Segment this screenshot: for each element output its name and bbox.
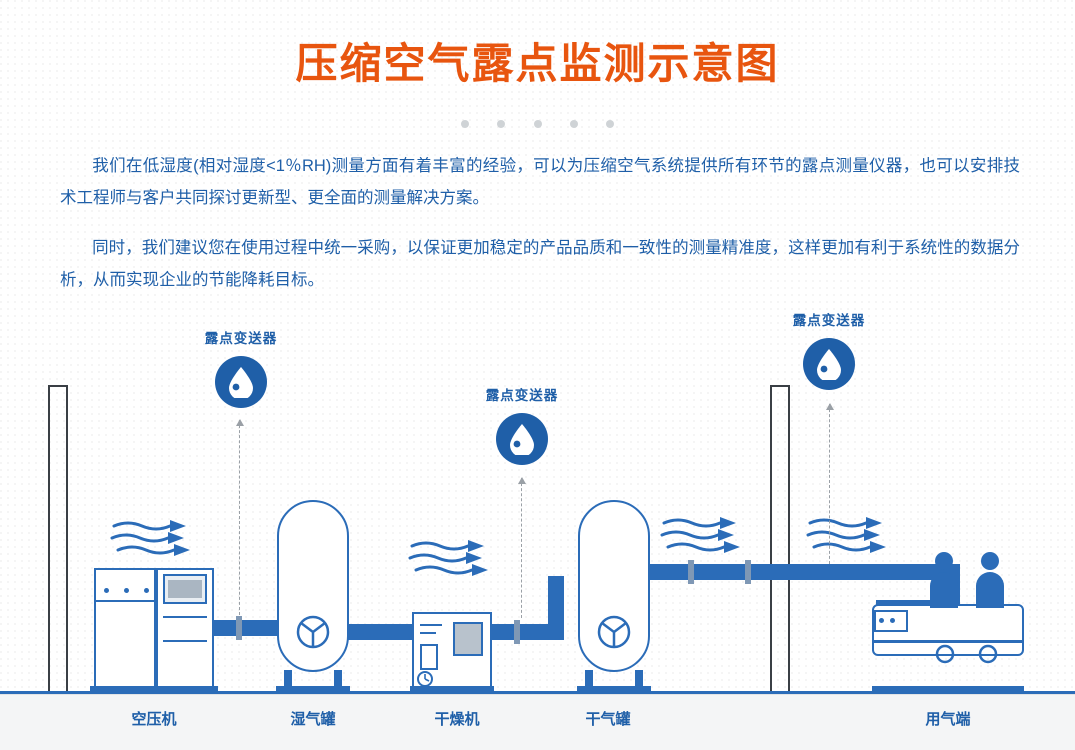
station-caption-compressor: 空压机 [94, 708, 214, 729]
ground-line [0, 691, 1075, 694]
flow-arrows-compressor [110, 518, 196, 562]
pipe-flange [688, 560, 694, 584]
measure-arrow-2 [521, 478, 522, 618]
pipe-dryer-to-dry-tank-riser [548, 576, 564, 632]
station-caption-use-end: 用气端 [888, 708, 1008, 729]
flow-arrows-use-end-in [806, 515, 892, 559]
decorative-dots [0, 115, 1075, 133]
paragraph-text: 同时，我们建议您在使用过程中统一采购，以保证更加稳定的产品品质和一致性的测量精准… [60, 239, 1020, 289]
measure-arrow-3 [829, 404, 830, 564]
dot [461, 120, 469, 128]
transmitter-label-3: 露点变送器 [764, 309, 894, 329]
bench-wheel-icon [935, 644, 955, 664]
dot [497, 120, 505, 128]
intro-paragraph-1: 我们在低湿度(相对湿度<1％RH)测量方面有着丰富的经验，可以为压缩空气系统提供… [60, 150, 1020, 214]
tank-valve-icon [597, 615, 631, 649]
measure-arrow-1 [239, 420, 240, 615]
transmitter-label-2: 露点变送器 [457, 384, 587, 404]
water-drop-icon [226, 366, 256, 398]
tank-valve-icon [296, 615, 330, 649]
dew-point-transmitter-2[interactable] [496, 413, 548, 465]
paragraph-text: 我们在低湿度(相对湿度<1％RH)测量方面有着丰富的经验，可以为压缩空气系统提供… [60, 157, 1020, 207]
pipe-dry-tank-to-use-end [650, 564, 960, 580]
station-caption-dryer: 干燥机 [397, 708, 517, 729]
dew-point-transmitter-3[interactable] [803, 338, 855, 390]
flow-arrows-dryer [408, 538, 494, 582]
water-drop-icon [507, 423, 537, 455]
pipe-compressor-to-wet-tank [207, 620, 279, 636]
worker-figure-icon [926, 550, 962, 608]
transmitter-label-1: 露点变送器 [176, 327, 306, 347]
process-diagram: 露点变送器 露点变送器 露点变送器 空压机 湿气罐 干燥机 干气罐 用气端 [0, 300, 1075, 749]
dot [534, 120, 542, 128]
dew-point-transmitter-1[interactable] [215, 356, 267, 408]
bench-wheel-icon [978, 644, 998, 664]
pipe-flange [745, 560, 751, 584]
water-drop-icon [814, 348, 844, 380]
flow-arrows-dry-tank-out [660, 515, 746, 559]
worker-figure-icon [972, 550, 1008, 608]
dot [606, 120, 614, 128]
intro-paragraph-2: 同时，我们建议您在使用过程中统一采购，以保证更加稳定的产品品质和一致性的测量精准… [60, 232, 1020, 296]
pipe-flange [514, 620, 520, 644]
page-title: 压缩空气露点监测示意图 [0, 30, 1075, 91]
station-caption-wet-tank: 湿气罐 [253, 708, 373, 729]
station-caption-dry-tank: 干气罐 [548, 708, 668, 729]
dot [570, 120, 578, 128]
pipe-flange [236, 616, 242, 640]
